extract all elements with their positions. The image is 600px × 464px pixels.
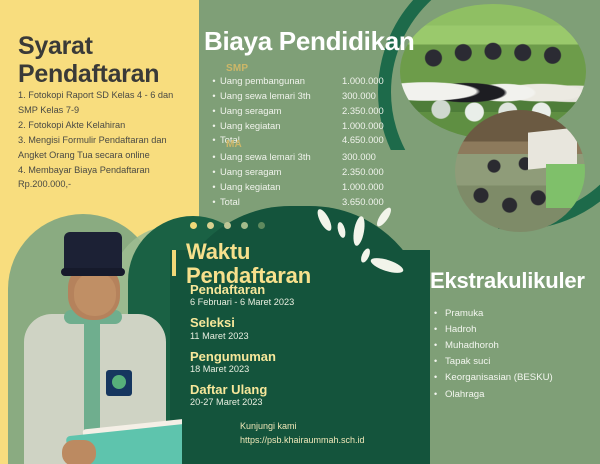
extracurricular-item-label: Muhadhoroh [445, 338, 499, 354]
dot-icon [190, 222, 197, 229]
student-uniform-badge [106, 370, 132, 396]
fee-amount: 300.000 [342, 89, 404, 104]
bullet-icon: • [208, 89, 220, 103]
schedule-item-date: 11 Maret 2023 [190, 331, 350, 343]
requirement-line: 4. Membayar Biaya Pendaftaran [18, 163, 194, 178]
extracurricular-list: •Pramuka•Hadroh•Muhadhoroh•Tapak suci•Ke… [434, 306, 594, 403]
photo-teachers-front-row [400, 63, 586, 120]
bullet-icon: • [208, 165, 220, 179]
fee-row: •Uang sewa lemari 3th300.000 [208, 89, 408, 104]
bullet-icon: • [434, 338, 445, 353]
extracurricular-item: •Tapak suci [434, 354, 594, 370]
extracurricular-item: •Olahraga [434, 387, 594, 403]
bullet-icon: • [208, 133, 220, 147]
schedule-item-date: 6 Februari - 6 Maret 2023 [190, 297, 350, 309]
requirements-title: Syarat Pendaftaran [18, 32, 193, 88]
extracurricular-item-label: Hadroh [445, 322, 476, 338]
requirement-line: Angket Orang Tua secara online [18, 148, 194, 163]
fee-name: Uang sewa lemari 3th [220, 150, 342, 165]
schedule-item: Pendaftaran6 Februari - 6 Maret 2023 [190, 282, 350, 309]
fee-name: Uang kegiatan [220, 119, 342, 134]
student-cap [64, 232, 122, 272]
fee-amount: 300.000 [342, 150, 404, 165]
petal-shape [369, 255, 405, 276]
schedule-item-label: Pendaftaran [190, 282, 350, 297]
bullet-icon: • [208, 119, 220, 133]
requirements-title-line2: Pendaftaran [18, 60, 193, 88]
dot-decoration [190, 222, 280, 232]
schedule-item: Seleksi11 Maret 2023 [190, 315, 350, 342]
fee-name: Uang seragam [220, 165, 342, 180]
schedule-title-line1: Waktu [186, 240, 346, 264]
fee-row: •Uang kegiatan1.000.000 [208, 180, 408, 195]
fee-row: •Uang pembangunan1.000.000 [208, 74, 408, 89]
fee-name: Uang kegiatan [220, 180, 342, 195]
visit-info: Kunjungi kami https://psb.khairaummah.sc… [240, 420, 420, 448]
requirements-title-line1: Syarat [18, 32, 193, 60]
student-cap-brim [61, 268, 125, 276]
extracurricular-item-label: Keorganisasian (BESKU) [445, 370, 553, 386]
dot-icon [207, 222, 214, 229]
extracurricular-item: •Pramuka [434, 306, 594, 322]
dot-icon [241, 222, 248, 229]
schedule-item-label: Pengumuman [190, 349, 350, 364]
fee-name: Uang seragam [220, 104, 342, 119]
fee-name: Uang pembangunan [220, 74, 342, 89]
bullet-icon: • [434, 322, 445, 337]
fees-group-label-smp: SMP [226, 63, 248, 74]
fee-amount: 1.000.000 [342, 180, 404, 195]
fees-title: Biaya Pendidikan [204, 26, 415, 57]
dot-icon [258, 222, 265, 229]
bullet-icon: • [208, 195, 220, 209]
photo-student-reading [6, 214, 182, 464]
photo-students-classroom [455, 110, 585, 232]
fee-amount: 2.350.000 [342, 165, 404, 180]
extracurricular-item-label: Pramuka [445, 306, 483, 322]
schedule-item-label: Daftar Ulang [190, 382, 350, 397]
fee-amount: 4.650.000 [342, 133, 404, 148]
schedule-item: Pengumuman18 Maret 2023 [190, 349, 350, 376]
extracurricular-item: •Hadroh [434, 322, 594, 338]
fee-name: Uang sewa lemari 3th [220, 89, 342, 104]
extracurricular-title: Ekstrakulikuler [430, 268, 585, 294]
visit-url[interactable]: https://psb.khairaummah.sch.id [240, 434, 420, 448]
bullet-icon: • [208, 104, 220, 118]
fee-row: •Uang kegiatan1.000.000 [208, 119, 408, 134]
bullet-icon: • [208, 180, 220, 194]
bullet-icon: • [434, 354, 445, 369]
petal-shape [351, 215, 366, 246]
extracurricular-item: •Muhadhoroh [434, 338, 594, 354]
fee-amount: 2.350.000 [342, 104, 404, 119]
classroom-wall [546, 164, 585, 208]
fees-group-label-ma: MA [226, 139, 242, 150]
schedule-item-label: Seleksi [190, 315, 350, 330]
classroom-whiteboard [528, 127, 577, 169]
student-face [74, 272, 116, 316]
fee-row: •Uang seragam2.350.000 [208, 165, 408, 180]
requirement-line: Rp.200.000,- [18, 177, 194, 192]
bullet-icon: • [208, 74, 220, 88]
dot-icon [224, 222, 231, 229]
schedule-accent-bar [172, 250, 176, 276]
bullet-icon: • [434, 387, 445, 402]
fee-amount: 1.000.000 [342, 119, 404, 134]
extracurricular-item-label: Tapak suci [445, 354, 490, 370]
fee-row: •Uang seragam2.350.000 [208, 104, 408, 119]
bullet-icon: • [434, 370, 445, 385]
extracurricular-item: •Keorganisasian (BESKU) [434, 370, 594, 386]
schedule-item: Daftar Ulang20-27 Maret 2023 [190, 382, 350, 409]
fee-row: •Uang sewa lemari 3th300.000 [208, 150, 408, 165]
bullet-icon: • [434, 306, 445, 321]
schedule-item-date: 20-27 Maret 2023 [190, 397, 350, 409]
requirement-line: 2. Fotokopi Akte Kelahiran [18, 118, 194, 133]
poster-canvas: Syarat Pendaftaran 1. Fotokopi Raport SD… [0, 0, 600, 464]
fee-amount: 3.650.000 [342, 195, 404, 210]
fee-name: Total [220, 195, 342, 210]
schedule-item-date: 18 Maret 2023 [190, 364, 350, 376]
requirements-list: 1. Fotokopi Raport SD Kelas 4 - 6 danSMP… [18, 88, 194, 192]
extracurricular-item-label: Olahraga [445, 387, 484, 403]
student-hand [62, 440, 96, 464]
visit-label: Kunjungi kami [240, 420, 420, 434]
schedule-items: Pendaftaran6 Februari - 6 Maret 2023Sele… [190, 282, 350, 415]
petal-shape [315, 207, 334, 232]
petal-shape [336, 221, 347, 238]
requirement-line: 3. Mengisi Formulir Pendaftaran dan [18, 133, 194, 148]
requirement-line: 1. Fotokopi Raport SD Kelas 4 - 6 dan [18, 88, 194, 103]
fees-rows-smp: •Uang pembangunan1.000.000•Uang sewa lem… [208, 74, 408, 148]
requirement-line: SMP Kelas 7-9 [18, 103, 194, 118]
fee-amount: 1.000.000 [342, 74, 404, 89]
bullet-icon: • [208, 150, 220, 164]
fees-rows-ma: •Uang sewa lemari 3th300.000•Uang seraga… [208, 150, 408, 209]
fee-row: •Total3.650.000 [208, 195, 408, 210]
